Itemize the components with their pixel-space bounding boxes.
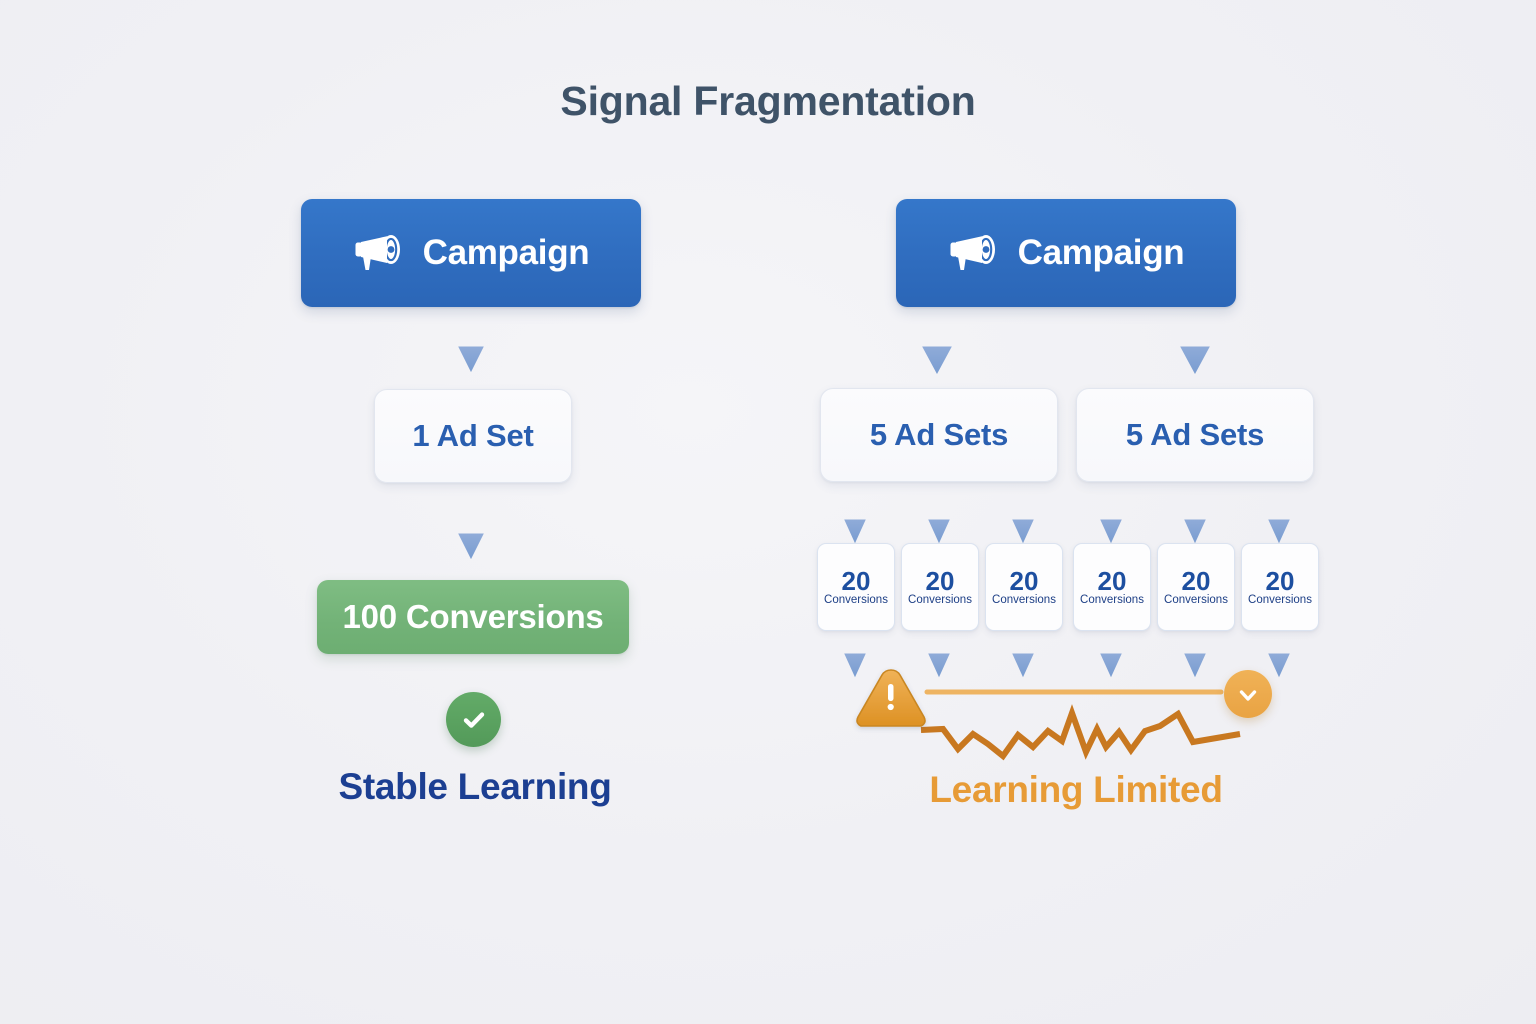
learning-limited-outcome-label: Learning Limited (876, 769, 1276, 811)
conversion-cell[interactable]: 20 Conversions (985, 543, 1063, 631)
connector-layer (0, 0, 1536, 1024)
left-conversions-box[interactable]: 100 Conversions (317, 580, 629, 654)
conversion-cell-caption: Conversions (908, 595, 972, 607)
left-adset-box[interactable]: 1 Ad Set (374, 389, 572, 483)
right-adset-box-2[interactable]: 5 Ad Sets (1076, 388, 1314, 482)
right-adset-label-1: 5 Ad Sets (870, 417, 1008, 453)
left-campaign-box[interactable]: Campaign (301, 199, 641, 307)
conversion-cell[interactable]: 20 Conversions (1157, 543, 1235, 631)
conversion-cell-value: 20 (1098, 568, 1127, 594)
conversion-cell-value: 20 (842, 568, 871, 594)
conversion-cell-caption: Conversions (1080, 595, 1144, 607)
right-adset-box-1[interactable]: 5 Ad Sets (820, 388, 1058, 482)
diagram-canvas: Signal Fragmentation Campaign 1 Ad Set 1… (0, 0, 1536, 1024)
megaphone-icon (353, 233, 405, 273)
check-icon (1235, 681, 1261, 707)
left-campaign-label: Campaign (423, 233, 590, 273)
right-campaign-box[interactable]: Campaign (896, 199, 1236, 307)
conversion-cell-value: 20 (926, 568, 955, 594)
page-title: Signal Fragmentation (0, 78, 1536, 125)
stable-learning-outcome-label: Stable Learning (280, 766, 670, 808)
conversion-cell[interactable]: 20 Conversions (817, 543, 895, 631)
warning-triangle-icon (857, 670, 925, 726)
conversion-cell-caption: Conversions (1164, 595, 1228, 607)
conversion-cell-value: 20 (1182, 568, 1211, 594)
conversion-cell[interactable]: 20 Conversions (901, 543, 979, 631)
conversion-cell[interactable]: 20 Conversions (1073, 543, 1151, 631)
conversion-cell-value: 20 (1010, 568, 1039, 594)
volatility-chart (921, 692, 1240, 756)
left-adset-label: 1 Ad Set (412, 418, 533, 454)
megaphone-icon (948, 233, 1000, 273)
stable-learning-status-badge (446, 692, 501, 747)
conversion-cell-caption: Conversions (992, 595, 1056, 607)
left-conversions-label: 100 Conversions (342, 598, 603, 636)
conversion-cell-caption: Conversions (824, 595, 888, 607)
right-campaign-label: Campaign (1018, 233, 1185, 273)
conversion-cell[interactable]: 20 Conversions (1241, 543, 1319, 631)
volatile-performance-line (921, 713, 1240, 756)
conversion-cell-caption: Conversions (1248, 595, 1312, 607)
learning-limited-check-badge (1224, 670, 1272, 718)
right-adset-label-2: 5 Ad Sets (1126, 417, 1264, 453)
conversion-cell-value: 20 (1266, 568, 1295, 594)
check-icon (459, 705, 489, 735)
